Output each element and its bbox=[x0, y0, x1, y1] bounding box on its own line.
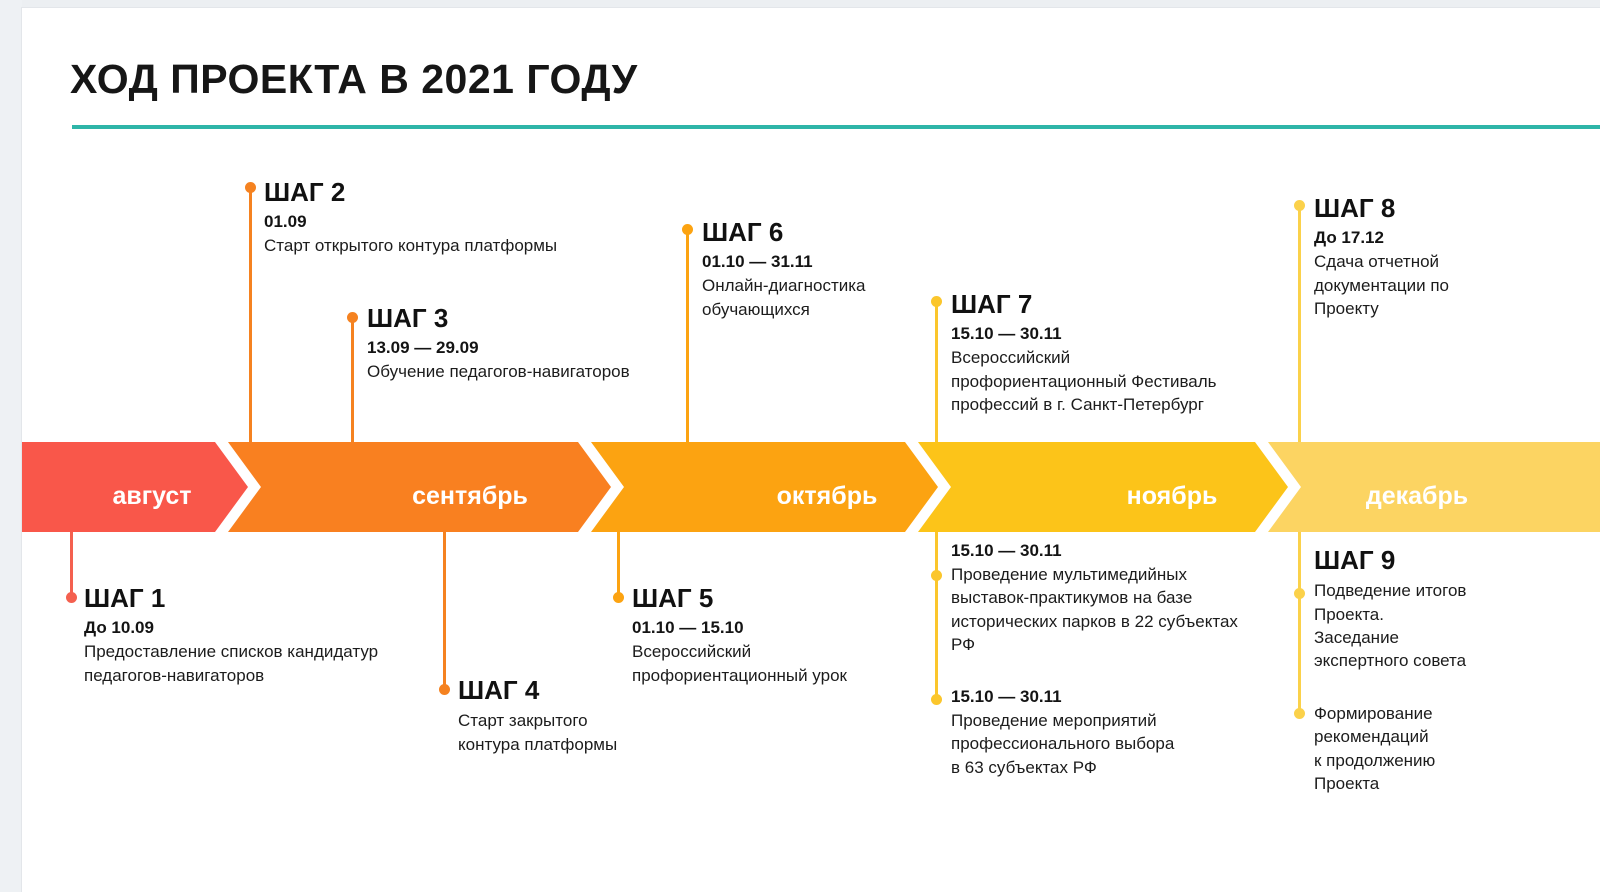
connector-line-november-items bbox=[935, 532, 938, 704]
month-label-noyabr: ноябрь bbox=[1052, 482, 1292, 511]
connector-dot-step1 bbox=[66, 592, 77, 603]
step-7-title: ШАГ 7 bbox=[951, 290, 1281, 319]
step-3-date: 13.09 — 29.09 bbox=[367, 337, 767, 360]
step-9-description: Подведение итогов Проекта. Заседание экс… bbox=[1314, 579, 1564, 673]
step-6-description: Онлайн-диагностика обучающихся bbox=[702, 274, 962, 321]
step-7-description: Всероссийский профориентационный Фестива… bbox=[951, 346, 1281, 416]
connector-line-step3 bbox=[351, 320, 354, 442]
connector-dot-november-item2 bbox=[931, 694, 942, 705]
month-label-avgust: август bbox=[52, 482, 252, 511]
step-8-description: Сдача отчетной документации по Проекту bbox=[1314, 250, 1564, 320]
connector-dot-step8 bbox=[1294, 200, 1305, 211]
step-6-title: ШАГ 6 bbox=[702, 218, 962, 247]
connector-line-step5 bbox=[617, 532, 620, 598]
november-item-1-date: 15.10 — 30.11 bbox=[951, 540, 1296, 563]
november-item-1-description: Проведение мультимедийных выставок-практ… bbox=[951, 563, 1296, 657]
slide-canvas: ХОД ПРОЕКТА В 2021 ГОДУ август сентябрь … bbox=[22, 8, 1600, 892]
connector-dot-step2 bbox=[245, 182, 256, 193]
december-item-2: Формирование рекомендаций к продолжению … bbox=[1314, 702, 1564, 796]
connector-line-december-items bbox=[1298, 532, 1301, 718]
step-4-description: Старт закрытого контура платформы bbox=[458, 709, 718, 756]
page-title: ХОД ПРОЕКТА В 2021 ГОДУ bbox=[70, 56, 638, 103]
step-card-1: ШАГ 1 До 10.09 Предоставление списков ка… bbox=[84, 584, 504, 687]
step-3-description: Обучение педагогов-навигаторов bbox=[367, 360, 767, 383]
step-9-title: ШАГ 9 bbox=[1314, 546, 1564, 575]
step-card-9: ШАГ 9 Подведение итогов Проекта. Заседан… bbox=[1314, 546, 1564, 673]
month-label-sentyabr: сентябрь bbox=[340, 482, 600, 511]
month-label-oktyabr: октябрь bbox=[712, 482, 942, 511]
step-5-description: Всероссийский профориентационный урок bbox=[632, 640, 932, 687]
connector-dot-november-item1 bbox=[931, 570, 942, 581]
step-card-8: ШАГ 8 До 17.12 Сдача отчетной документац… bbox=[1314, 194, 1564, 320]
title-divider bbox=[72, 125, 1600, 129]
connector-dot-step3 bbox=[347, 312, 358, 323]
november-item-2-date: 15.10 — 30.11 bbox=[951, 686, 1281, 709]
step-1-title: ШАГ 1 bbox=[84, 584, 504, 613]
november-item-2: 15.10 — 30.11 Проведение мероприятий про… bbox=[951, 686, 1281, 779]
november-item-1: 15.10 — 30.11 Проведение мультимедийных … bbox=[951, 540, 1296, 657]
step-card-5: ШАГ 5 01.10 — 15.10 Всероссийский профор… bbox=[632, 584, 932, 687]
step-8-title: ШАГ 8 bbox=[1314, 194, 1564, 223]
step-1-date: До 10.09 bbox=[84, 617, 504, 640]
step-8-date: До 17.12 bbox=[1314, 227, 1564, 250]
november-item-2-description: Проведение мероприятий профессионального… bbox=[951, 709, 1281, 779]
step-card-4: ШАГ 4 Старт закрытого контура платформы bbox=[458, 676, 718, 756]
step-7-date: 15.10 — 30.11 bbox=[951, 323, 1281, 346]
step-card-6: ШАГ 6 01.10 — 31.11 Онлайн-диагностика о… bbox=[702, 218, 962, 321]
step-5-date: 01.10 — 15.10 bbox=[632, 617, 932, 640]
connector-line-step1 bbox=[70, 532, 73, 598]
december-item-2-description: Формирование рекомендаций к продолжению … bbox=[1314, 702, 1564, 796]
step-2-description: Старт открытого контура платформы bbox=[264, 234, 684, 257]
connector-line-step8 bbox=[1298, 208, 1301, 442]
connector-dot-step5 bbox=[613, 592, 624, 603]
step-1-description: Предоставление списков кандидатур педаго… bbox=[84, 640, 504, 687]
step-2-date: 01.09 bbox=[264, 211, 684, 234]
window-top-stripe bbox=[22, 0, 1600, 8]
step-5-title: ШАГ 5 bbox=[632, 584, 932, 613]
step-2-title: ШАГ 2 bbox=[264, 178, 684, 207]
step-6-date: 01.10 — 31.11 bbox=[702, 251, 962, 274]
step-card-7: ШАГ 7 15.10 — 30.11 Всероссийский профор… bbox=[951, 290, 1281, 416]
step-card-2: ШАГ 2 01.09 Старт открытого контура плат… bbox=[264, 178, 684, 258]
connector-line-step2 bbox=[249, 190, 252, 442]
connector-dot-december-item2 bbox=[1294, 708, 1305, 719]
month-label-dekabr: декабрь bbox=[1297, 482, 1537, 511]
connector-line-step7 bbox=[935, 304, 938, 442]
